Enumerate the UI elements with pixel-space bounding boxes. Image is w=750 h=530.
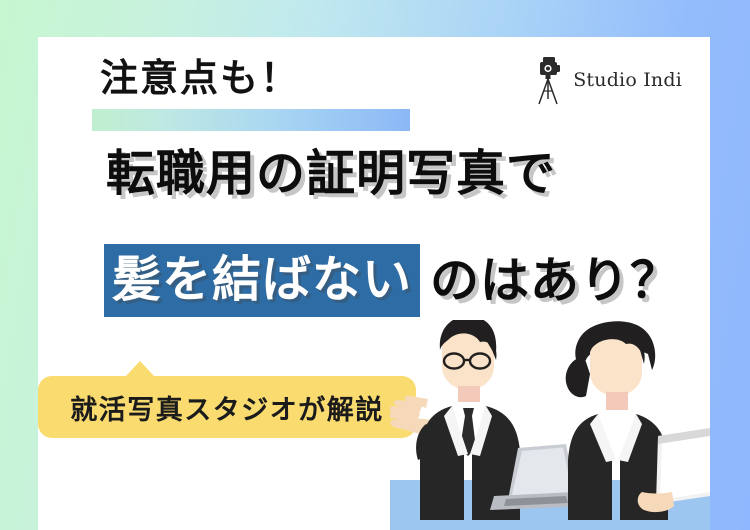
white-content-card: Studio Indi 注意点も！ 転職用の証明写真で 髪を結ばない のはあり？… [38, 37, 710, 530]
highlight-phrase-box: 髪を結ばない [104, 244, 420, 317]
speech-bubble-label: 就活写真スタジオが解説 [38, 376, 416, 438]
speech-bubble: 就活写真スタジオが解説 [38, 376, 416, 438]
headline-line3-tail: のはあり？ [430, 256, 680, 305]
headline-line3: 髪を結ばない のはあり？ [104, 244, 680, 317]
studio-indi-logo: Studio Indi [532, 54, 682, 106]
camera-tripod-icon [532, 54, 566, 106]
speech-bubble-tail [125, 361, 155, 377]
headline-line1: 注意点も！ [100, 59, 300, 97]
two-business-people-illustration [390, 320, 710, 530]
headline-line1-wrap: 注意点も！ [100, 59, 300, 97]
logo-text: Studio Indi [573, 69, 682, 91]
gradient-marker-bar [92, 109, 410, 131]
thumbnail-canvas: Studio Indi 注意点も！ 転職用の証明写真で 髪を結ばない のはあり？… [0, 0, 750, 530]
headline-line2: 転職用の証明写真で [106, 149, 556, 198]
